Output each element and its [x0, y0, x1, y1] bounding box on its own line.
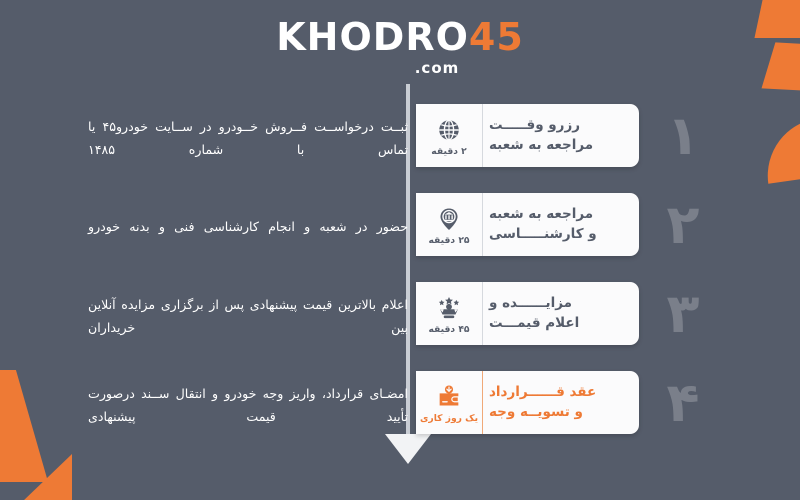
step-card[interactable]: عقد قــــــرارداد و تسویــه وجه یک روز ک… [416, 371, 639, 434]
step-title-line-2: و کارشنـــــاسی [489, 225, 597, 245]
step-description: امضـای قرارداد، واریز وجه خودرو و انتقال… [88, 378, 408, 429]
step-title-line-1: عقد قــــــرارداد [489, 383, 596, 403]
logo-text-com: .com [74, 59, 800, 77]
logo-text-khodro: KHODRO [276, 15, 469, 59]
step-number: ۱ [648, 100, 718, 172]
step-card-title: مراجعه به شعبه و کارشنـــــاسی [482, 193, 639, 256]
decor-shape-bottom-left-2 [22, 454, 72, 500]
step-card-meta: یک روز کاری [416, 371, 482, 434]
step-title-line-2: و تسویــه وجه [489, 403, 583, 423]
globe-icon [436, 117, 462, 143]
auction-award-icon [436, 295, 462, 321]
step-description: اعلام بالاترین قیمت پیشنهادی پس از برگزا… [88, 289, 408, 340]
step-card[interactable]: رزرو وقـــــت مراجعه به شعبه ۲ دقیقه [416, 104, 639, 167]
process-step: حضور در شعبه و انجام کارشناسی فنی و بدنه… [0, 181, 800, 269]
infographic-canvas: KHODRO45 .com ثبــت درخواســت فــروش خــ… [0, 0, 800, 500]
step-number: ۴ [648, 367, 718, 439]
logo-text-45: 45 [469, 15, 524, 59]
step-duration: ۴۵ دقیقه [428, 324, 469, 335]
step-description: حضور در شعبه و انجام کارشناسی فنی و بدنه… [88, 211, 408, 238]
step-card-meta: ۴۵ دقیقه [416, 282, 482, 345]
step-card-meta: ۲۵ دقیقه [416, 193, 482, 256]
step-title-line-1: مراجعه به شعبه [489, 205, 593, 225]
step-title-line-1: مزایــــــده و [489, 294, 572, 314]
step-title-line-2: مراجعه به شعبه [489, 136, 593, 156]
step-description: ثبــت درخواســت فــروش خــودرو در ســایت… [88, 111, 408, 162]
process-step: امضـای قرارداد، واریز وجه خودرو و انتقال… [0, 359, 800, 447]
wallet-download-icon [436, 384, 462, 410]
step-card-meta: ۲ دقیقه [416, 104, 482, 167]
logo-wordmark: KHODRO45 [0, 18, 800, 56]
step-number: ۲ [648, 189, 718, 261]
step-card[interactable]: مراجعه به شعبه و کارشنـــــاسی ۲۵ دقیقه [416, 193, 639, 256]
step-card-title: عقد قــــــرارداد و تسویــه وجه [482, 371, 639, 434]
step-title-line-2: اعلام قیمـــت [489, 314, 579, 334]
process-step: ثبــت درخواســت فــروش خــودرو در ســایت… [0, 92, 800, 180]
step-duration: یک روز کاری [420, 413, 478, 424]
step-card-title: مزایــــــده و اعلام قیمـــت [482, 282, 639, 345]
step-card-title: رزرو وقـــــت مراجعه به شعبه [482, 104, 639, 167]
step-card[interactable]: مزایــــــده و اعلام قیمـــت ۴۵ دقیقه [416, 282, 639, 345]
step-duration: ۲ دقیقه [431, 146, 466, 157]
step-number: ۳ [648, 278, 718, 350]
map-pin-bank-icon [436, 206, 462, 232]
step-title-line-1: رزرو وقـــــت [489, 116, 580, 136]
brand-logo: KHODRO45 .com [0, 18, 800, 77]
step-duration: ۲۵ دقیقه [428, 235, 469, 246]
process-step: اعلام بالاترین قیمت پیشنهادی پس از برگزا… [0, 270, 800, 358]
